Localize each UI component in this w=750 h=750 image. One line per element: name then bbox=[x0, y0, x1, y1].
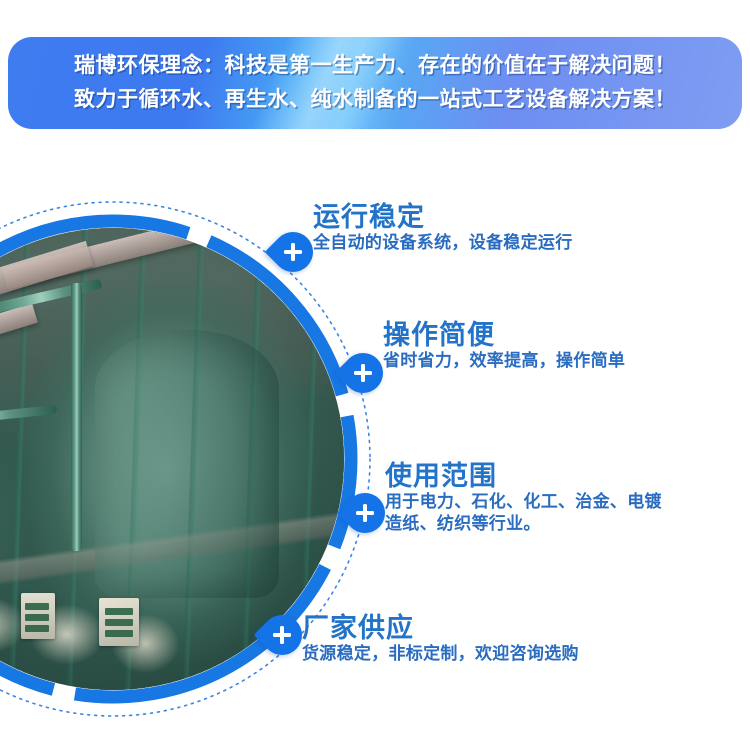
header-banner: 瑞博环保理念：科技是第一生产力、存在的价值在于解决问题！ 致力于循环水、再生水、… bbox=[8, 37, 742, 129]
feature-title: 操作简便 bbox=[383, 320, 625, 350]
feature-desc: 货源稳定，非标定制，欢迎咨询选购 bbox=[302, 643, 579, 665]
banner-line-2: 致力于循环水、再生水、纯水制备的一站式工艺设备解决方案！ bbox=[74, 85, 676, 115]
feature-title: 使用范围 bbox=[385, 461, 662, 491]
feature-text-4: 厂家供应 货源稳定，非标定制，欢迎咨询选购 bbox=[302, 613, 579, 665]
feature-desc: 全自动的设备系统，设备稳定运行 bbox=[313, 232, 573, 254]
feature-text-1: 运行稳定 全自动的设备系统，设备稳定运行 bbox=[313, 202, 573, 254]
banner-line-1: 瑞博环保理念：科技是第一生产力、存在的价值在于解决问题！ bbox=[74, 51, 676, 81]
feature-title: 厂家供应 bbox=[302, 613, 579, 643]
feature-text-2: 操作简便 省时省力，效率提高，操作简单 bbox=[383, 320, 625, 372]
feature-desc: 用于电力、石化、化工、治金、电镀 bbox=[385, 491, 662, 513]
feature-title: 运行稳定 bbox=[313, 202, 573, 232]
feature-text-3: 使用范围 用于电力、石化、化工、治金、电镀 造纸、纺织等行业。 bbox=[385, 461, 662, 535]
banner-text-group: 瑞博环保理念：科技是第一生产力、存在的价值在于解决问题！ 致力于循环水、再生水、… bbox=[8, 37, 742, 129]
feature-desc: 造纸、纺织等行业。 bbox=[385, 513, 662, 535]
feature-desc: 省时省力，效率提高，操作简单 bbox=[383, 350, 625, 372]
promo-page: 瑞博环保理念：科技是第一生产力、存在的价值在于解决问题！ 致力于循环水、再生水、… bbox=[0, 0, 750, 750]
